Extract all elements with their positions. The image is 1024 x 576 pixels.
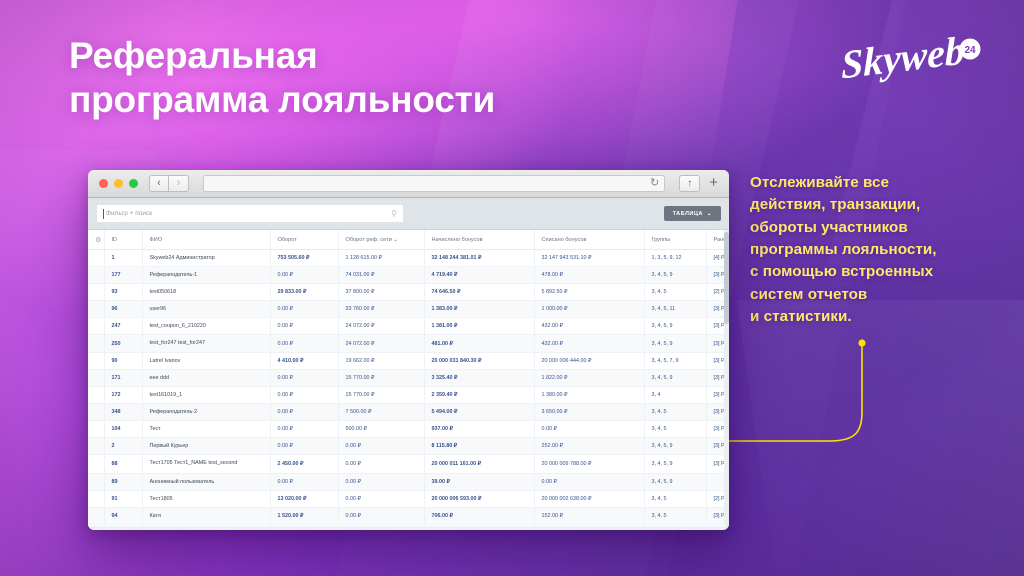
cell-id: 89 [104,473,142,490]
cell-oborot: 0.00 ₽ [270,473,338,490]
cell-spisano: 1 380.00 ₽ [534,387,644,404]
app-toolbar: ⚲ ТАБЛИЦА ⌄ [88,198,729,230]
row-select-cell[interactable] [88,404,104,421]
cell-id: 171 [104,370,142,387]
gear-icon[interactable]: ⚙ [95,237,101,244]
row-select-cell[interactable] [88,370,104,387]
cell-oborot: 29 833.00 ₽ [270,284,338,301]
cell-nachisleno: 32 148 244 381.01 ₽ [424,250,534,267]
column-header-oborot[interactable]: Оборот [270,230,338,250]
table-row[interactable]: 93test05061829 833.00 ₽37 800.00 ₽74 646… [88,284,729,301]
cell-fio: Latrel Ivanov [142,353,270,370]
cell-spisano: 20 000 009 788.00 ₽ [534,455,644,473]
column-header-oborot-ref[interactable]: Оборот реф. сети ⌄ [338,230,424,250]
row-select-cell[interactable] [88,490,104,507]
cell-spisano: 0.00 ₽ [534,473,644,490]
table-row[interactable]: 94Катя1 520.00 ₽0.00 ₽706.00 ₽152.00 ₽3,… [88,507,729,524]
description-line: Отслеживайте все [750,172,1012,194]
table-row[interactable]: 91Тест180513 020.00 ₽0.00 ₽20 000 006 59… [88,490,729,507]
cell-oborot: 13 020.00 ₽ [270,490,338,507]
cell-nachisleno: 20 000 011 161.00 ₽ [424,455,534,473]
cell-nachisleno: 3 325.40 ₽ [424,370,534,387]
description-line: действия, транзакции, [750,194,1012,216]
table-row[interactable]: 171eee ddd0.00 ₽15 770.00 ₽3 325.40 ₽1 8… [88,370,729,387]
table-row[interactable]: 104Тест0.00 ₽500.00 ₽937.00 ₽0.00 ₽3, 4,… [88,421,729,438]
description-line: с помощью встроенных [750,261,1012,283]
cell-fio: test161019_1 [142,387,270,404]
cell-fio: test_for247 test_for247 [142,335,270,353]
cell-nachisleno: 8 115.80 ₽ [424,438,534,455]
description-line: программы лояльности, [750,239,1012,261]
cell-gruppy: 3, 4, 5, 7, 9 [644,353,706,370]
cell-oborot-ref: 0.00 ₽ [338,473,424,490]
cell-fio: eee ddd [142,370,270,387]
cell-oborot: 0.00 ₽ [270,370,338,387]
cell-id: 90 [104,353,142,370]
table-row[interactable]: 250test_for247 test_for2470.00 ₽24 072.0… [88,335,729,353]
sort-caret-icon: ⌄ [393,237,398,243]
cell-gruppy: 3, 4, 5, 9 [644,335,706,353]
browser-titlebar: ‹ › ↻ ↑ + [88,170,729,198]
cell-oborot-ref: 7 500.00 ₽ [338,404,424,421]
cell-oborot: 4 410.00 ₽ [270,353,338,370]
cell-oborot-ref: 15 770.00 ₽ [338,387,424,404]
cell-oborot: 2 450.00 ₽ [270,455,338,473]
share-icon[interactable]: ↑ [679,175,700,192]
scrollbar-thumb[interactable] [724,232,729,324]
cell-oborot-ref: 500.00 ₽ [338,421,424,438]
row-select-cell[interactable] [88,318,104,335]
close-window-icon[interactable] [99,179,108,188]
cell-spisano: 152.00 ₽ [534,507,644,524]
cell-oborot-ref: 24 072.00 ₽ [338,335,424,353]
row-select-cell[interactable] [88,284,104,301]
table-row[interactable]: 90Latrel Ivanov4 410.00 ₽19 662.00 ₽20 0… [88,353,729,370]
cell-oborot: 1 520.00 ₽ [270,507,338,524]
description-line: обороты участников [750,217,1012,239]
cell-oborot-ref: 37 800.00 ₽ [338,284,424,301]
cell-nachisleno: 20 000 031 840.30 ₽ [424,353,534,370]
search-icon[interactable]: ⚲ [391,209,397,218]
cell-gruppy: 3, 4, 5, 9 [644,267,706,284]
filter-search-box[interactable]: ⚲ [96,204,404,223]
cell-oborot-ref: 33 760.00 ₽ [338,301,424,318]
forward-button[interactable]: › [169,175,189,192]
cell-spisano: 432.00 ₽ [534,318,644,335]
cell-oborot: 0.00 ₽ [270,438,338,455]
table-row[interactable]: 96user960.00 ₽33 760.00 ₽1 383.00 ₽1 000… [88,301,729,318]
cell-fio: Рефераподатель-2 [142,404,270,421]
cell-gruppy: 3, 4, 5, 9 [644,455,706,473]
logo-badge: 24 [960,39,981,60]
cell-spisano: 20 000 002 638.00 ₽ [534,490,644,507]
table-row[interactable]: 348Рефераподатель-20.00 ₽7 500.00 ₽5 494… [88,404,729,421]
description-line: систем отчетов [750,284,1012,306]
table-row[interactable]: 177Рефераподатель-10.00 ₽74 031.00 ₽4 71… [88,267,729,284]
cell-id: 2 [104,438,142,455]
logo-badge-text: 24 [964,45,976,56]
cell-fio: Анонимный пользователь [142,473,270,490]
cell-gruppy: 3, 4, 5, 9 [644,438,706,455]
cell-id: 348 [104,404,142,421]
cell-id: 96 [104,301,142,318]
text-caret [103,209,104,219]
row-select-cell[interactable] [88,455,104,473]
cell-id: 91 [104,490,142,507]
new-tab-button[interactable]: + [706,175,721,192]
cell-fio: test050618 [142,284,270,301]
cell-oborot-ref: 0.00 ₽ [338,507,424,524]
cell-spisano: 20 000 006 444.00 ₽ [534,353,644,370]
row-select-cell[interactable] [88,473,104,490]
row-select-cell[interactable] [88,438,104,455]
cell-nachisleno: 20 000 006 593.00 ₽ [424,490,534,507]
cell-fio: Катя [142,507,270,524]
cell-id: 94 [104,507,142,524]
cell-fio: user96 [142,301,270,318]
participants-table: ⚙ ID ФИО Оборот Оборот реф. сети ⌄ Начис… [88,230,729,525]
column-settings-cell[interactable]: ⚙ [88,230,104,250]
cell-id: 104 [104,421,142,438]
column-header-spisano[interactable]: Списано бонусов [534,230,644,250]
feature-description: Отслеживайте все действия, транзакции, о… [750,172,1012,328]
cell-spisano: 3 650.00 ₽ [534,404,644,421]
cell-spisano: 478.00 ₽ [534,267,644,284]
description-line: и статистики. [750,306,1012,328]
cell-oborot: 0.00 ₽ [270,335,338,353]
cell-gruppy: 3, 4, 5 [644,507,706,524]
cell-oborot: 0.00 ₽ [270,267,338,284]
view-mode-dropdown[interactable]: ТАБЛИЦА ⌄ [664,206,721,221]
cell-oborot-ref: 0.00 ₽ [338,455,424,473]
row-select-cell[interactable] [88,267,104,284]
column-header-nachisleno[interactable]: Начислено бонусов [424,230,534,250]
cell-gruppy: 3, 4, 5, 9 [644,473,706,490]
page-title: Реферальная программа лояльности [69,34,669,123]
row-select-cell[interactable] [88,250,104,267]
row-select-cell[interactable] [88,335,104,353]
cell-oborot: 0.00 ₽ [270,387,338,404]
cell-fio: Тест1805 [142,490,270,507]
brand-logo: Skyweb 24 [844,34,989,94]
table-row[interactable]: 2Первый Курьер0.00 ₽0.00 ₽8 115.80 ₽252.… [88,438,729,455]
cell-gruppy: 3, 4 [644,387,706,404]
cell-nachisleno: 39.00 ₽ [424,473,534,490]
cell-gruppy: 1, 3, 5, 9, 12 [644,250,706,267]
cell-fio: Первый Курьер [142,438,270,455]
cell-id: 177 [104,267,142,284]
cell-fio: test_coupon_6_210220 [142,318,270,335]
cell-gruppy: 3, 4, 5, 9 [644,318,706,335]
navigation-buttons[interactable]: ‹ › [149,175,189,192]
cell-gruppy: 3, 4, 5, 11 [644,301,706,318]
cell-spisano: 1 000.00 ₽ [534,301,644,318]
cell-spisano: 0.00 ₽ [534,421,644,438]
data-table-container: ⚙ ID ФИО Оборот Оборот реф. сети ⌄ Начис… [88,230,729,526]
cell-oborot-ref: 0.00 ₽ [338,438,424,455]
row-select-cell[interactable] [88,507,104,524]
cell-nachisleno: 1 383.00 ₽ [424,301,534,318]
cell-oborot-ref: 0.00 ₽ [338,490,424,507]
cell-id: 93 [104,284,142,301]
table-row[interactable]: 172test161019_10.00 ₽15 770.00 ₽2 359.40… [88,387,729,404]
cell-oborot-ref: 15 770.00 ₽ [338,370,424,387]
cell-fio: Тест [142,421,270,438]
cell-id: 247 [104,318,142,335]
cell-nachisleno: 74 646.50 ₽ [424,284,534,301]
cell-nachisleno: 481.00 ₽ [424,335,534,353]
cell-fio: Skyweb24 Администратор [142,250,270,267]
chevron-down-icon: ⌄ [707,211,712,217]
cell-spisano: 252.00 ₽ [534,438,644,455]
cell-spisano: 32 147 943 531.10 ₽ [534,250,644,267]
vertical-scrollbar[interactable] [724,230,729,526]
table-header: ⚙ ID ФИО Оборот Оборот реф. сети ⌄ Начис… [88,230,729,250]
table-row[interactable]: 88Тест1705 Тест1_NAME test_second2 450.0… [88,455,729,473]
cell-nachisleno: 937.00 ₽ [424,421,534,438]
table-row[interactable]: 1Skyweb24 Администратор753 505.60 ₽1 128… [88,250,729,267]
reload-icon[interactable]: ↻ [650,178,659,189]
address-bar[interactable]: ↻ [203,175,665,192]
cell-oborot: 753 505.60 ₽ [270,250,338,267]
row-select-cell[interactable] [88,387,104,404]
cell-gruppy: 3, 4, 5 [644,490,706,507]
cell-spisano: 432.00 ₽ [534,335,644,353]
cell-gruppy: 3, 4, 5 [644,421,706,438]
search-input[interactable] [106,210,391,217]
minimize-window-icon[interactable] [114,179,123,188]
cell-spisano: 5 892.50 ₽ [534,284,644,301]
logo-wordmark: Skyweb [841,27,965,87]
cell-nachisleno: 2 359.40 ₽ [424,387,534,404]
logo-word-text: Skyweb [841,27,965,87]
table-header-row: ⚙ ID ФИО Оборот Оборот реф. сети ⌄ Начис… [88,230,729,250]
window-controls[interactable] [99,179,138,188]
cell-oborot-ref: 74 031.00 ₽ [338,267,424,284]
cell-id: 88 [104,455,142,473]
column-header-oborot-ref-label: Оборот реф. сети [346,237,392,243]
row-select-cell[interactable] [88,301,104,318]
cell-oborot: 0.00 ₽ [270,301,338,318]
cell-nachisleno: 706.00 ₽ [424,507,534,524]
cell-id: 1 [104,250,142,267]
back-button[interactable]: ‹ [149,175,169,192]
view-mode-label: ТАБЛИЦА [673,211,703,217]
cell-spisano: 1 822.00 ₽ [534,370,644,387]
headline-line-1: Реферальная [69,34,669,78]
cell-oborot: 0.00 ₽ [270,421,338,438]
row-select-cell[interactable] [88,353,104,370]
headline-line-2: программа лояльности [69,78,669,122]
titlebar-actions: ↑ + [679,175,721,192]
cell-fio: Тест1705 Тест1_NAME test_second [142,455,270,473]
cell-oborot-ref: 19 662.00 ₽ [338,353,424,370]
cell-fio: Рефераподатель-1 [142,267,270,284]
cell-gruppy: 3, 4, 5, 9 [644,370,706,387]
cell-nachisleno: 4 719.40 ₽ [424,267,534,284]
cell-gruppy: 3, 4, 5 [644,404,706,421]
cell-nachisleno: 5 494.00 ₽ [424,404,534,421]
cell-oborot-ref: 24 072.00 ₽ [338,318,424,335]
row-select-cell[interactable] [88,421,104,438]
zoom-window-icon[interactable] [129,179,138,188]
column-header-fio[interactable]: ФИО [142,230,270,250]
cell-oborot-ref: 1 128 615.00 ₽ [338,250,424,267]
column-header-id[interactable]: ID [104,230,142,250]
table-body: 1Skyweb24 Администратор753 505.60 ₽1 128… [88,250,729,525]
cell-oborot: 0.00 ₽ [270,404,338,421]
table-row[interactable]: 89Анонимный пользователь0.00 ₽0.00 ₽39.0… [88,473,729,490]
cell-nachisleno: 1 381.00 ₽ [424,318,534,335]
cell-id: 172 [104,387,142,404]
table-row[interactable]: 247test_coupon_6_2102200.00 ₽24 072.00 ₽… [88,318,729,335]
cell-oborot: 0.00 ₽ [270,318,338,335]
column-header-gruppy[interactable]: Группы [644,230,706,250]
cell-id: 250 [104,335,142,353]
browser-window: ‹ › ↻ ↑ + ⚲ ТАБЛИЦА ⌄ [88,170,729,530]
cell-gruppy: 3, 4, 5 [644,284,706,301]
